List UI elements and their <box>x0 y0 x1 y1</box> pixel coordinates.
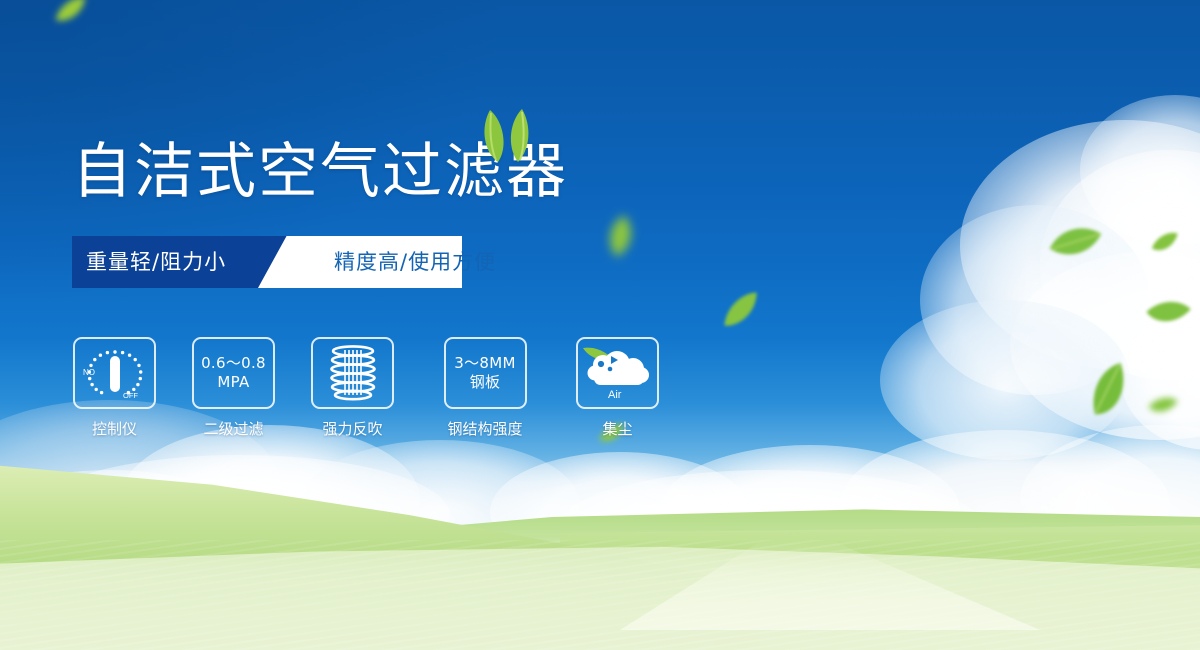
pressure-line-2: MPA <box>201 373 266 392</box>
steel-line-2: 钢板 <box>454 373 515 392</box>
feature-icon-box: 3〜8MM 钢板 <box>444 337 527 409</box>
feature-label: 集尘 <box>602 418 632 439</box>
air-cloud-icon: Air <box>581 342 655 404</box>
feature-item-two-stage-filter[interactable]: 0.6〜0.8 MPA 二级过滤 <box>191 337 276 439</box>
floating-leaf-icon <box>1147 393 1179 417</box>
filter-coil-stack-icon <box>325 343 381 403</box>
feature-item-control-dial[interactable]: NO OFF 控制仪 <box>72 337 157 439</box>
dial-on-label: NO <box>83 368 95 377</box>
feature-icon-box <box>311 337 394 409</box>
feature-item-dust-collection[interactable]: Air 集尘 <box>575 337 660 439</box>
feature-label: 强力反吹 <box>322 418 382 439</box>
sprout-two-leaves-icon <box>476 108 538 164</box>
dial-off-label: OFF <box>123 391 138 400</box>
feature-list: NO OFF 控制仪 0.6〜0.8 MPA 二级过滤 <box>72 337 660 439</box>
feature-tagline-badge: 重量轻/阻力小 精度高/使用方便 <box>72 236 462 288</box>
feature-icon-box: Air <box>576 337 659 409</box>
air-cloud-label: Air <box>608 389 622 401</box>
control-dial-gauge-icon: NO OFF <box>78 342 152 404</box>
feature-icon-box: NO OFF <box>73 337 156 409</box>
feature-label: 钢结构强度 <box>447 418 522 439</box>
product-hero-banner: 自洁式空气过滤器 重量轻/阻力小 精度高/使用方便 <box>0 0 1200 650</box>
pressure-text-icon: 0.6〜0.8 MPA <box>201 354 266 392</box>
pressure-line-1: 0.6〜0.8 <box>201 354 266 373</box>
steel-plate-text-icon: 3〜8MM 钢板 <box>454 354 515 392</box>
feature-item-reverse-blow[interactable]: 强力反吹 <box>310 337 395 439</box>
feature-label: 二级过滤 <box>203 418 263 439</box>
steel-line-1: 3〜8MM <box>454 354 515 373</box>
feature-icon-box: 0.6〜0.8 MPA <box>192 337 275 409</box>
feature-label: 控制仪 <box>92 418 137 439</box>
feature-item-steel-strength[interactable]: 3〜8MM 钢板 钢结构强度 <box>429 337 541 439</box>
grass-texture <box>0 540 1200 650</box>
badge-right-label: 精度高/使用方便 <box>334 236 496 288</box>
badge-left-label: 重量轻/阻力小 <box>86 236 226 288</box>
